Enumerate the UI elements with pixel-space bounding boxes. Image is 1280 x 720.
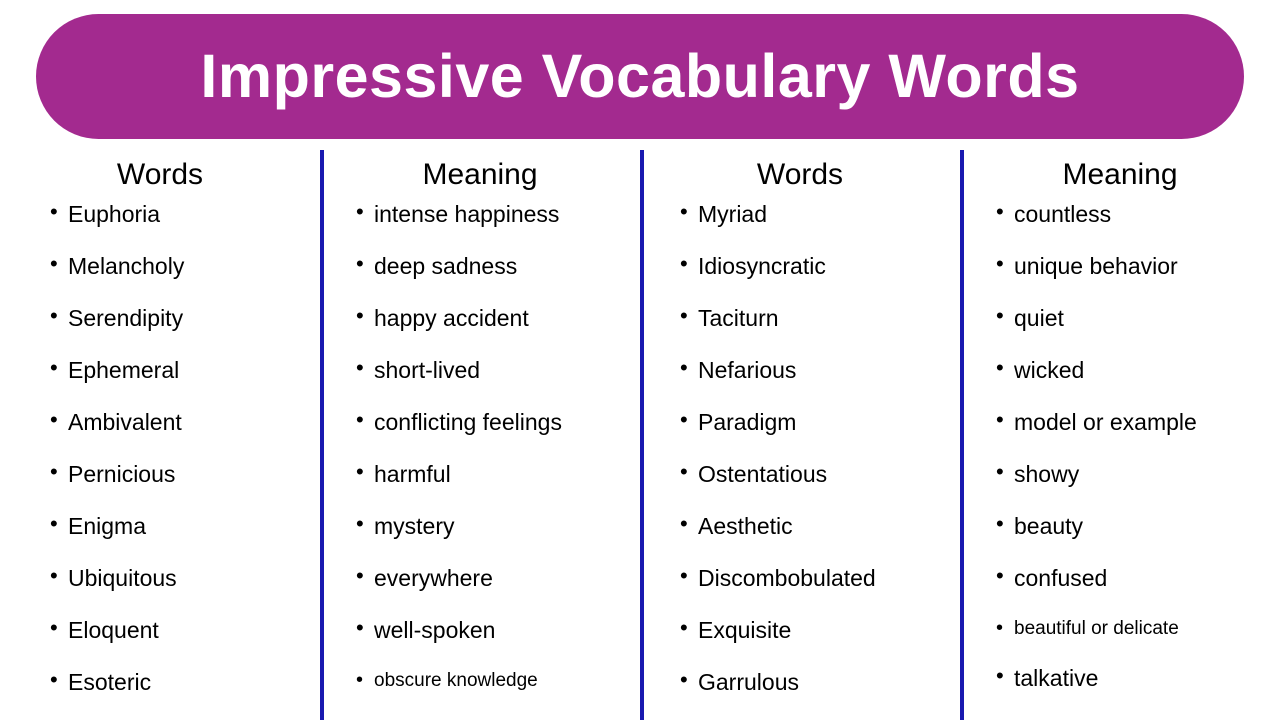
list-item: Taciturn: [664, 307, 960, 330]
list-item: Euphoria: [34, 203, 320, 226]
column-header: Meaning: [960, 150, 1280, 193]
list-item: Exquisite: [664, 619, 960, 642]
list-item: short-lived: [340, 359, 640, 382]
word-list: EuphoriaMelancholySerendipityEphemeralAm…: [0, 203, 320, 694]
list-item: countless: [980, 203, 1280, 226]
list-item: Ambivalent: [34, 411, 320, 434]
list-item: wicked: [980, 359, 1280, 382]
column-words-2: Words MyriadIdiosyncraticTaciturnNefario…: [640, 150, 960, 720]
list-item: intense happiness: [340, 203, 640, 226]
meaning-list: intense happinessdeep sadnesshappy accid…: [320, 203, 640, 690]
column-header: Words: [0, 150, 320, 193]
list-item: Pernicious: [34, 463, 320, 486]
list-item: mystery: [340, 515, 640, 538]
column-header: Meaning: [320, 150, 640, 193]
list-item: Idiosyncratic: [664, 255, 960, 278]
list-item: beauty: [980, 515, 1280, 538]
list-item: obscure knowledge: [340, 671, 640, 690]
list-item: Melancholy: [34, 255, 320, 278]
list-item: happy accident: [340, 307, 640, 330]
list-item: Aesthetic: [664, 515, 960, 538]
column-meaning-1: Meaning intense happinessdeep sadnesshap…: [320, 150, 640, 720]
list-item: model or example: [980, 411, 1280, 434]
column-header: Words: [640, 150, 960, 193]
list-item: Myriad: [664, 203, 960, 226]
list-item: Esoteric: [34, 671, 320, 694]
list-item: Ubiquitous: [34, 567, 320, 590]
vocabulary-infographic: Impressive Vocabulary Words Words Euphor…: [0, 0, 1280, 720]
list-item: Nefarious: [664, 359, 960, 382]
list-item: everywhere: [340, 567, 640, 590]
columns-container: Words EuphoriaMelancholySerendipityEphem…: [0, 150, 1280, 720]
column-divider: [320, 150, 324, 720]
list-item: harmful: [340, 463, 640, 486]
meaning-list: countlessunique behaviorquietwickedmodel…: [960, 203, 1280, 690]
column-divider: [960, 150, 964, 720]
list-item: showy: [980, 463, 1280, 486]
list-item: unique behavior: [980, 255, 1280, 278]
list-item: beautiful or delicate: [980, 619, 1280, 638]
list-item: Ostentatious: [664, 463, 960, 486]
list-item: Enigma: [34, 515, 320, 538]
list-item: Ephemeral: [34, 359, 320, 382]
list-item: Discombobulated: [664, 567, 960, 590]
list-item: talkative: [980, 667, 1280, 690]
list-item: Eloquent: [34, 619, 320, 642]
list-item: conflicting feelings: [340, 411, 640, 434]
list-item: Garrulous: [664, 671, 960, 694]
word-list: MyriadIdiosyncraticTaciturnNefariousPara…: [640, 203, 960, 694]
list-item: Serendipity: [34, 307, 320, 330]
list-item: well-spoken: [340, 619, 640, 642]
column-meaning-2: Meaning countlessunique behaviorquietwic…: [960, 150, 1280, 720]
column-divider: [640, 150, 644, 720]
column-words-1: Words EuphoriaMelancholySerendipityEphem…: [0, 150, 320, 720]
list-item: Paradigm: [664, 411, 960, 434]
list-item: deep sadness: [340, 255, 640, 278]
list-item: confused: [980, 567, 1280, 590]
list-item: quiet: [980, 307, 1280, 330]
title-banner: Impressive Vocabulary Words: [36, 14, 1244, 139]
page-title: Impressive Vocabulary Words: [200, 46, 1079, 107]
